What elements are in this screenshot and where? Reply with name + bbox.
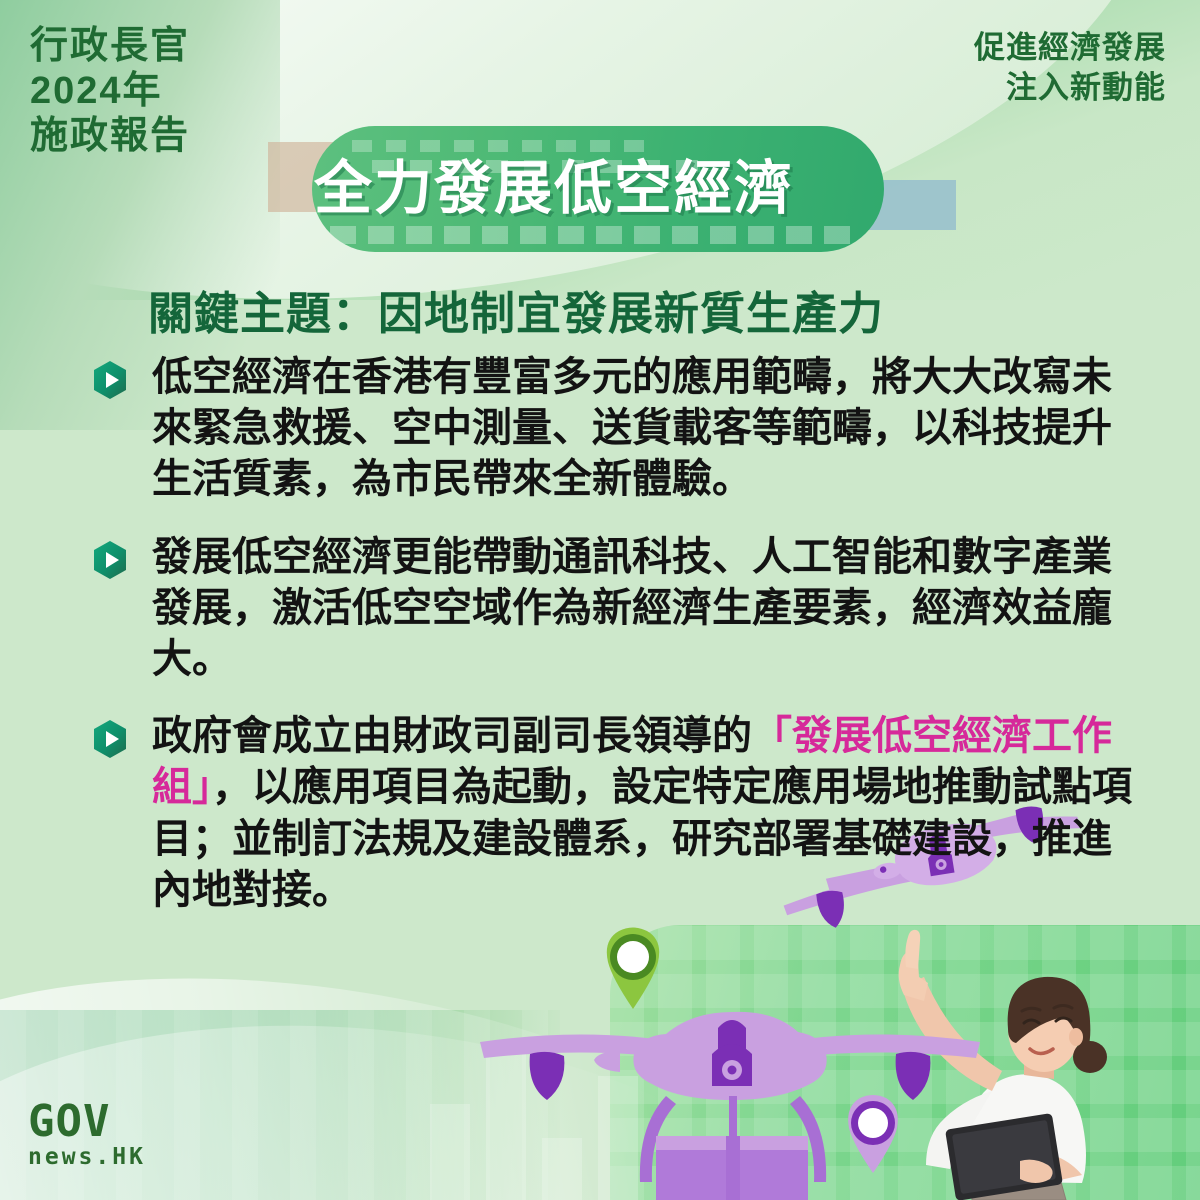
list-item: 發展低空經濟更能帶動通訊科技、人工智能和數字產業發展，激活低空空域作為新經濟生產…	[90, 532, 1150, 686]
banner-title-text: 全力發展低空經濟	[268, 120, 840, 246]
list-item: 政府會成立由財政司副司長領導的「發展低空經濟工作組」，以應用項目為起動，設定特定…	[90, 711, 1150, 916]
list-item-text: 發展低空經濟更能帶動通訊科技、人工智能和數字產業發展，激活低空空域作為新經濟生產…	[152, 532, 1150, 686]
list-item: 低空經濟在香港有豐富多元的應用範疇，將大大改寫未來緊急救援、空中測量、送貨載客等…	[90, 352, 1150, 506]
list-item-text: 低空經濟在香港有豐富多元的應用範疇，將大大改寫未來緊急救援、空中測量、送貨載客等…	[152, 352, 1150, 506]
hexagon-play-icon	[90, 360, 130, 400]
key-theme-subtitle: 關鍵主題：因地制宜發展新質生產力	[148, 277, 884, 342]
delivery-drone-icon	[470, 1000, 990, 1200]
title-banner: 全力發展低空經濟	[268, 120, 908, 260]
hexagon-play-icon	[90, 540, 130, 580]
list-item-text: 政府會成立由財政司副司長領導的「發展低空經濟工作組」，以應用項目為起動，設定特定…	[152, 711, 1142, 916]
infographic-poster: 行政長官 2024年 施政報告 促進經濟發展 注入新動能 全力發展低空經濟 關鍵…	[0, 0, 1200, 1200]
list-item-text-suffix: ，以應用項目為起動，設定特定應用場地推動試點項目；並制訂法規及建設體系，研究部署…	[152, 765, 1132, 911]
list-item-text-prefix: 政府會成立由財政司副司長領導的	[152, 714, 752, 758]
logo-primary-text: GOV	[28, 1100, 146, 1144]
govnews-logo[interactable]: GOV news.HK	[28, 1100, 146, 1172]
report-title: 行政長官 2024年 施政報告	[30, 24, 190, 158]
header-slogan: 促進經濟發展 注入新動能	[974, 28, 1166, 109]
bullet-list: 低空經濟在香港有豐富多元的應用範疇，將大大改寫未來緊急救援、空中測量、送貨載客等…	[90, 352, 1150, 942]
hexagon-play-icon	[90, 719, 130, 759]
logo-secondary-text: news.HK	[28, 1144, 146, 1172]
